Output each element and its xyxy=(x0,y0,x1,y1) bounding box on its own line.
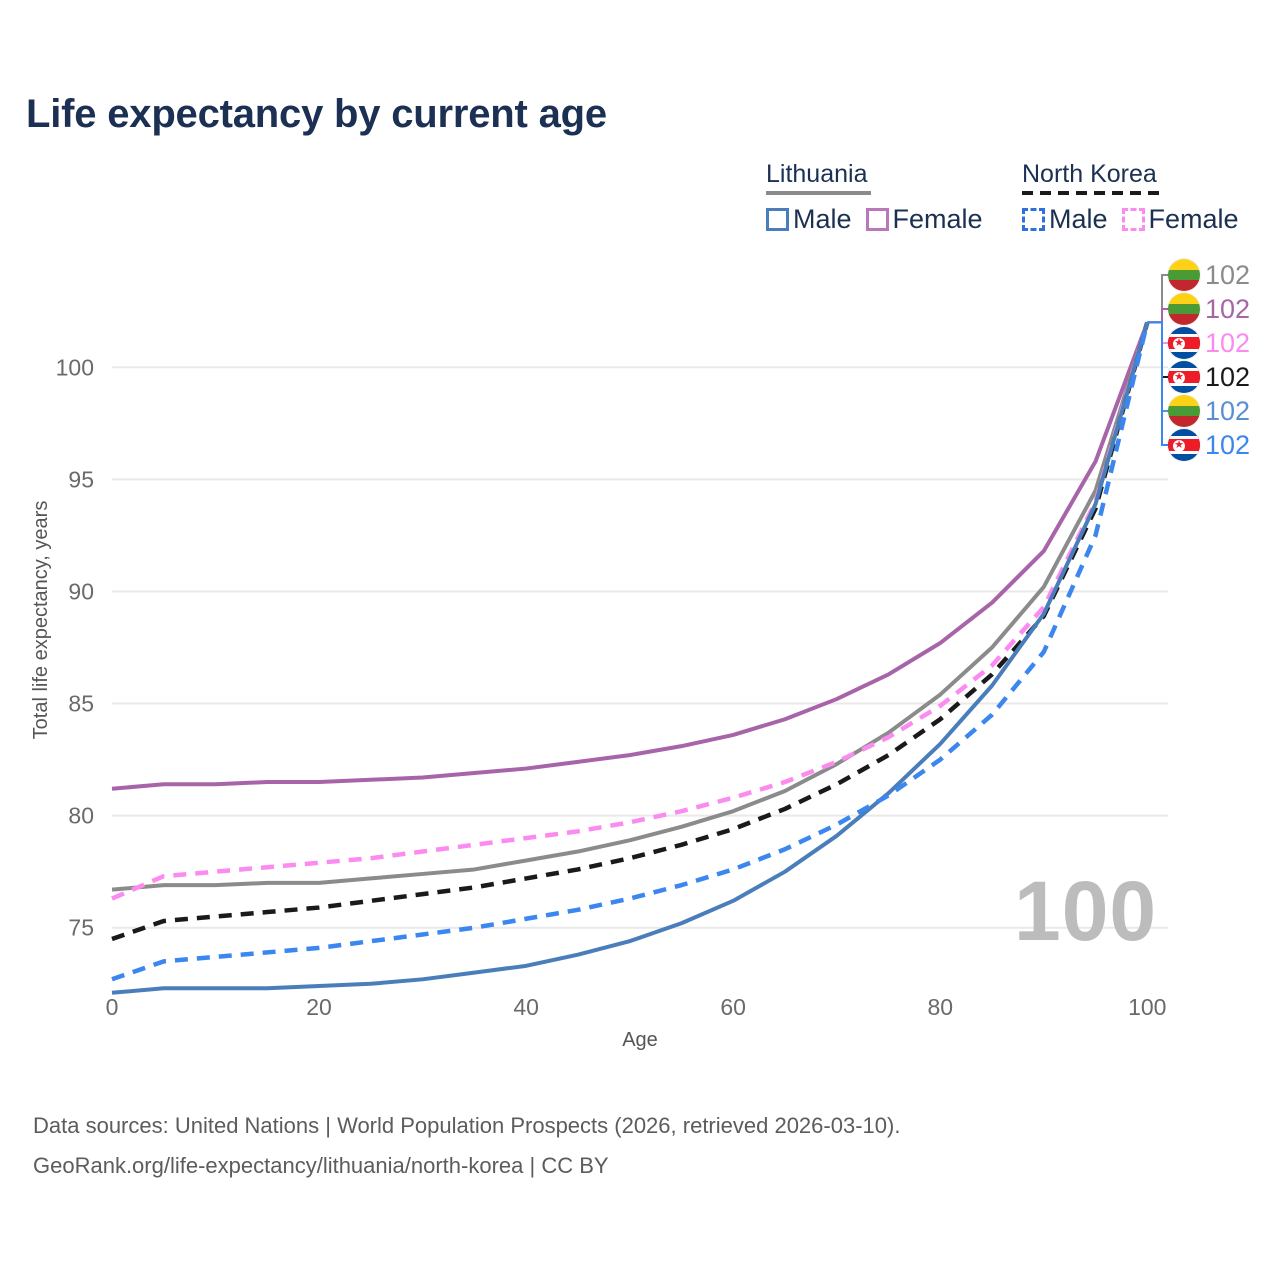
series-end-label: ★102 xyxy=(1168,360,1250,394)
chart-watermark: 100 xyxy=(1014,869,1157,953)
series-end-label-value: 102 xyxy=(1205,362,1250,392)
series-end-label-value: 102 xyxy=(1205,328,1250,358)
x-axis-tick-label: 80 xyxy=(927,994,953,1020)
series-line xyxy=(112,322,1147,979)
chart-page: Life expectancy by current age Lithuania… xyxy=(0,0,1280,1280)
y-axis-tick-label: 80 xyxy=(68,803,94,829)
series-end-label-value: 102 xyxy=(1205,396,1250,426)
north-korea-flag-icon: ★ xyxy=(1168,327,1200,359)
footer-attribution: GeoRank.org/life-expectancy/lithuania/no… xyxy=(33,1146,900,1186)
chart-series-layer xyxy=(112,322,1147,992)
north-korea-flag-icon: ★ xyxy=(1168,429,1200,461)
series-line xyxy=(112,322,1147,992)
x-axis-tick-label: 20 xyxy=(306,994,332,1020)
y-axis-tick-label: 85 xyxy=(68,691,94,717)
series-end-label: 102 xyxy=(1168,394,1250,428)
y-axis-tick-label: 75 xyxy=(68,915,94,941)
series-line xyxy=(112,322,1147,939)
y-axis-tick-label: 95 xyxy=(68,466,94,492)
y-axis-tick-label: 100 xyxy=(56,354,94,380)
series-end-label: ★102 xyxy=(1168,428,1250,462)
x-axis-title: Age xyxy=(622,1029,658,1051)
x-axis-tick-label: 100 xyxy=(1128,994,1166,1020)
footer-data-sources: Data sources: United Nations | World Pop… xyxy=(33,1106,900,1146)
series-line xyxy=(112,322,1147,898)
series-line xyxy=(112,322,1147,889)
series-end-label: 102 xyxy=(1168,292,1250,326)
series-end-label: 102 xyxy=(1168,258,1250,292)
x-axis-tick-labels: 020406080100 xyxy=(106,994,1167,1020)
series-line xyxy=(112,322,1147,788)
series-end-label: ★102 xyxy=(1168,326,1250,360)
lithuania-flag-icon xyxy=(1168,259,1200,291)
series-end-label-value: 102 xyxy=(1205,430,1250,460)
x-axis-tick-label: 0 xyxy=(106,994,119,1020)
y-axis-tick-labels: 7580859095100 xyxy=(56,354,94,940)
north-korea-flag-icon: ★ xyxy=(1168,361,1200,393)
lithuania-flag-icon xyxy=(1168,395,1200,427)
x-axis-tick-label: 60 xyxy=(720,994,746,1020)
lithuania-flag-icon xyxy=(1168,293,1200,325)
chart-footer: Data sources: United Nations | World Pop… xyxy=(33,1106,900,1186)
series-end-label-value: 102 xyxy=(1205,294,1250,324)
y-axis-tick-label: 90 xyxy=(68,578,94,604)
y-axis-title: Total life expectancy, years xyxy=(30,501,52,740)
series-end-label-value: 102 xyxy=(1205,260,1250,290)
x-axis-tick-label: 40 xyxy=(513,994,539,1020)
